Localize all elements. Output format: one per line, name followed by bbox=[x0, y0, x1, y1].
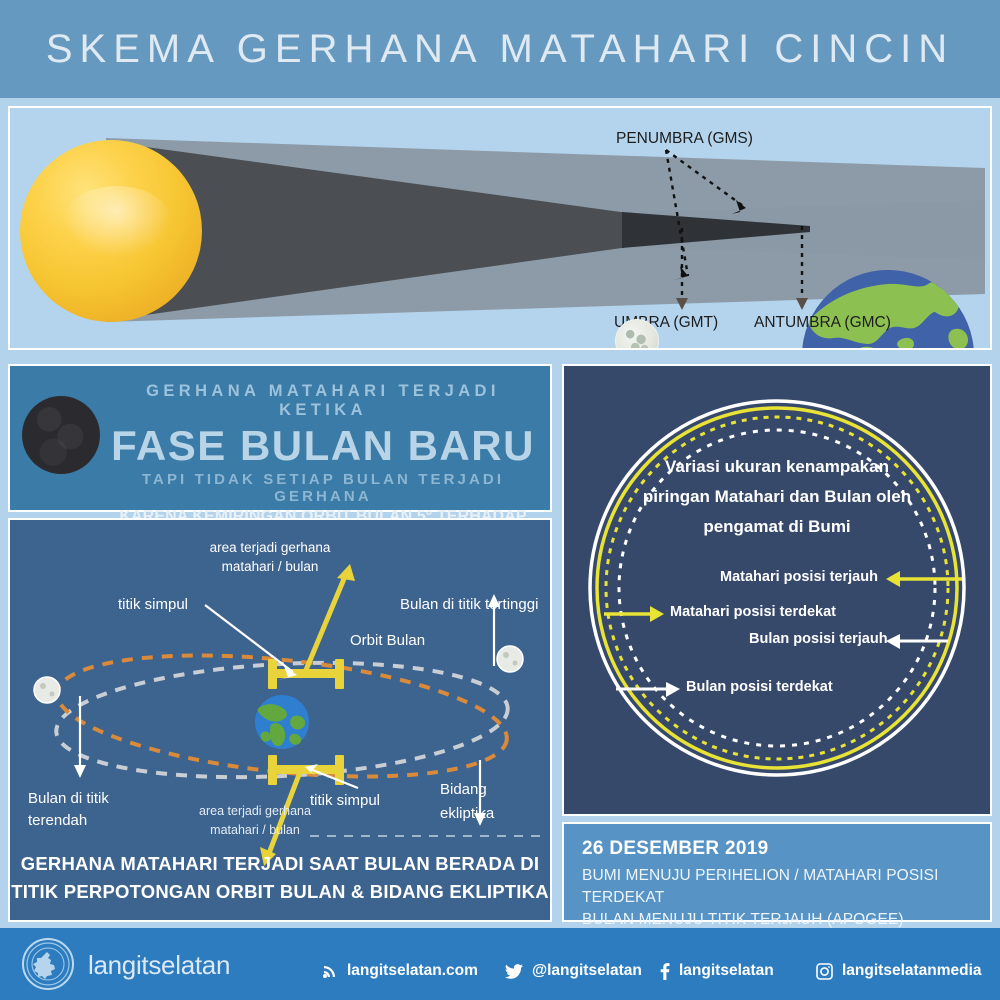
footer-bar: langitselatan langitselatan.com @langits… bbox=[0, 928, 1000, 1000]
header-bar: SKEMA GERHANA MATAHARI CINCIN bbox=[0, 0, 1000, 98]
orbit-caption-line2: TITIK PERPOTONGAN ORBIT BULAN & BIDANG E… bbox=[10, 878, 550, 906]
twitter-icon bbox=[505, 964, 523, 979]
apparent-size-panel: Variasi ukuran kenampakan piringan Matah… bbox=[562, 364, 992, 816]
eclipse-geometry-diagram: PENUMBRA (GMS) UMBRA (GMT) ANTUMBRA (GMC… bbox=[8, 106, 992, 350]
earth-small-icon bbox=[255, 695, 309, 749]
label-moon-lowest-line1: Bulan di titik bbox=[28, 790, 109, 807]
label-sun-farthest: Matahari posisi terjauh bbox=[720, 569, 878, 585]
brand-bold: langit bbox=[88, 950, 148, 980]
event-date: 26 DESEMBER 2019 bbox=[582, 838, 990, 860]
label-eclipse-area-bottom-line1: area terjadi gerhana bbox=[199, 804, 311, 818]
label-ecliptic-line1: Bidang bbox=[440, 781, 487, 798]
moon-orbit-panel: area terjadi gerhana matahari / bulan ti… bbox=[8, 518, 552, 922]
label-moon-farthest: Bulan posisi terjauh bbox=[749, 631, 888, 647]
label-ecliptic-line2: ekliptika bbox=[440, 805, 494, 822]
new-moon-phase-panel: GERHANA MATAHARI TERJADI KETIKA FASE BUL… bbox=[8, 364, 552, 512]
label-node-bottom: titik simpul bbox=[310, 792, 380, 809]
label-moon-lowest-line2: terendah bbox=[28, 812, 87, 829]
label-ecliptic-plane: Bidang ekliptika bbox=[440, 778, 530, 826]
circles-title-line3: pengamat di Bumi bbox=[564, 512, 990, 542]
label-sun-closest: Matahari posisi terdekat bbox=[670, 604, 836, 620]
event-date-panel: 26 DESEMBER 2019 BUMI MENUJU PERIHELION … bbox=[562, 822, 992, 922]
brand-light: selatan bbox=[148, 950, 230, 980]
website-label: langitselatan.com bbox=[347, 962, 478, 980]
circles-title: Variasi ukuran kenampakan piringan Matah… bbox=[564, 452, 990, 542]
apparent-size-circles bbox=[564, 366, 992, 816]
label-moon-highest: Bulan di titik tertinggi bbox=[400, 596, 538, 613]
circles-title-line2: piringan Matahari dan Bulan oleh bbox=[564, 482, 990, 512]
label-eclipse-area-top: area terjadi gerhana matahari / bulan bbox=[180, 538, 360, 576]
website-link[interactable]: langitselatan.com bbox=[322, 962, 478, 980]
facebook-icon bbox=[660, 963, 670, 980]
facebook-handle: langitselatan bbox=[679, 962, 774, 980]
label-antumbra: ANTUMBRA (GMC) bbox=[754, 314, 891, 332]
label-moon-orbit: Orbit Bulan bbox=[350, 632, 425, 649]
label-eclipse-area-bottom: area terjadi gerhana matahari / bulan bbox=[190, 802, 320, 840]
label-node-top: titik simpul bbox=[118, 596, 188, 613]
sun-highlight bbox=[62, 186, 172, 258]
page-title: SKEMA GERHANA MATAHARI CINCIN bbox=[46, 27, 954, 72]
twitter-link[interactable]: @langitselatan bbox=[505, 962, 642, 980]
label-eclipse-area-top-line2: matahari / bulan bbox=[222, 559, 319, 574]
new-moon-icon bbox=[22, 396, 100, 474]
fase-line-2: FASE BULAN BARU bbox=[106, 422, 540, 470]
sun-icon bbox=[20, 140, 202, 322]
earth-icon bbox=[802, 270, 974, 350]
facebook-link[interactable]: langitselatan bbox=[660, 962, 774, 980]
langitselatan-logo[interactable] bbox=[22, 938, 74, 990]
instagram-icon bbox=[816, 963, 833, 980]
label-eclipse-area-top-line1: area terjadi gerhana bbox=[210, 540, 331, 555]
fase-line-1: GERHANA MATAHARI TERJADI KETIKA bbox=[106, 382, 540, 420]
twitter-handle: @langitselatan bbox=[532, 962, 642, 980]
label-moon-closest: Bulan posisi terdekat bbox=[686, 679, 833, 695]
rss-icon bbox=[322, 963, 338, 979]
instagram-link[interactable]: langitselatanmedia bbox=[816, 962, 982, 980]
orbit-caption: GERHANA MATAHARI TERJADI SAAT BULAN BERA… bbox=[10, 850, 550, 906]
circles-title-line1: Variasi ukuran kenampakan bbox=[564, 452, 990, 482]
label-moon-lowest: Bulan di titik terendah bbox=[28, 788, 138, 832]
label-penumbra: PENUMBRA (GMS) bbox=[616, 130, 753, 148]
brand-wordmark[interactable]: langitselatan bbox=[88, 950, 230, 981]
infographic-page: SKEMA GERHANA MATAHARI CINCIN bbox=[0, 0, 1000, 1000]
event-note-line1: BUMI MENUJU PERIHELION / MATAHARI POSISI… bbox=[582, 865, 990, 909]
orbit-caption-line1: GERHANA MATAHARI TERJADI SAAT BULAN BERA… bbox=[10, 850, 550, 878]
instagram-handle: langitselatanmedia bbox=[842, 962, 982, 980]
label-eclipse-area-bottom-line2: matahari / bulan bbox=[210, 823, 300, 837]
fase-line-3: TAPI TIDAK SETIAP BULAN TERJADI GERHANA bbox=[106, 471, 540, 505]
